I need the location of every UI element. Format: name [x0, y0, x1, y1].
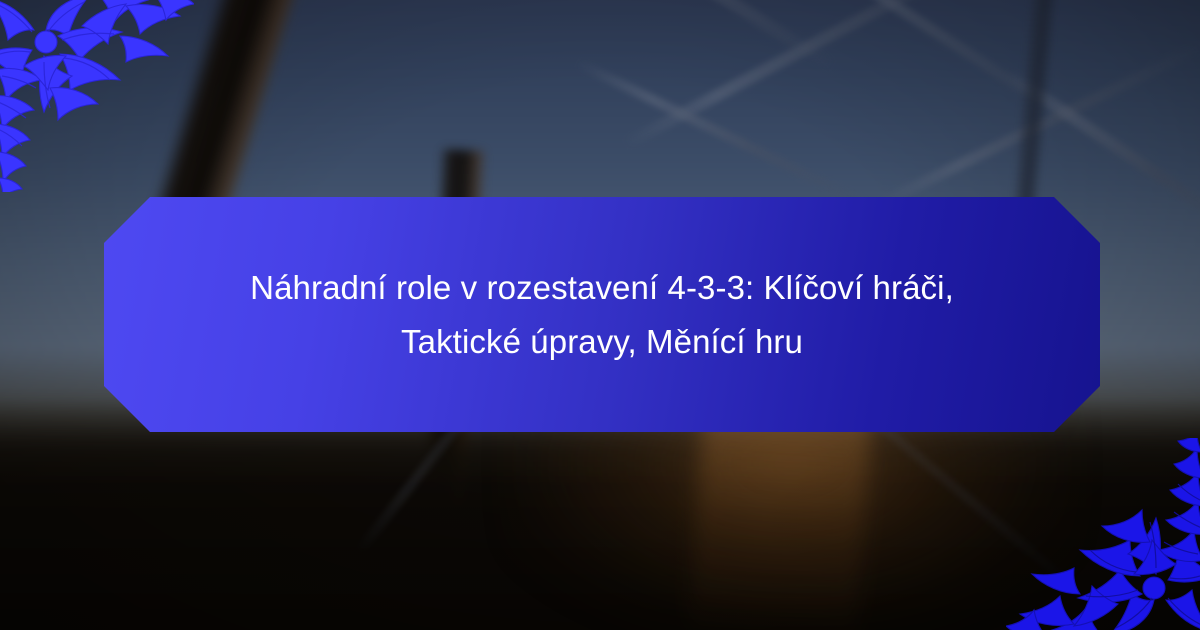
page-title: Náhradní role v rozestavení 4-3-3: Klíčo… [242, 261, 962, 369]
poster-canvas: Náhradní role v rozestavení 4-3-3: Klíčo… [0, 0, 1200, 630]
title-banner: Náhradní role v rozestavení 4-3-3: Klíčo… [104, 197, 1100, 432]
